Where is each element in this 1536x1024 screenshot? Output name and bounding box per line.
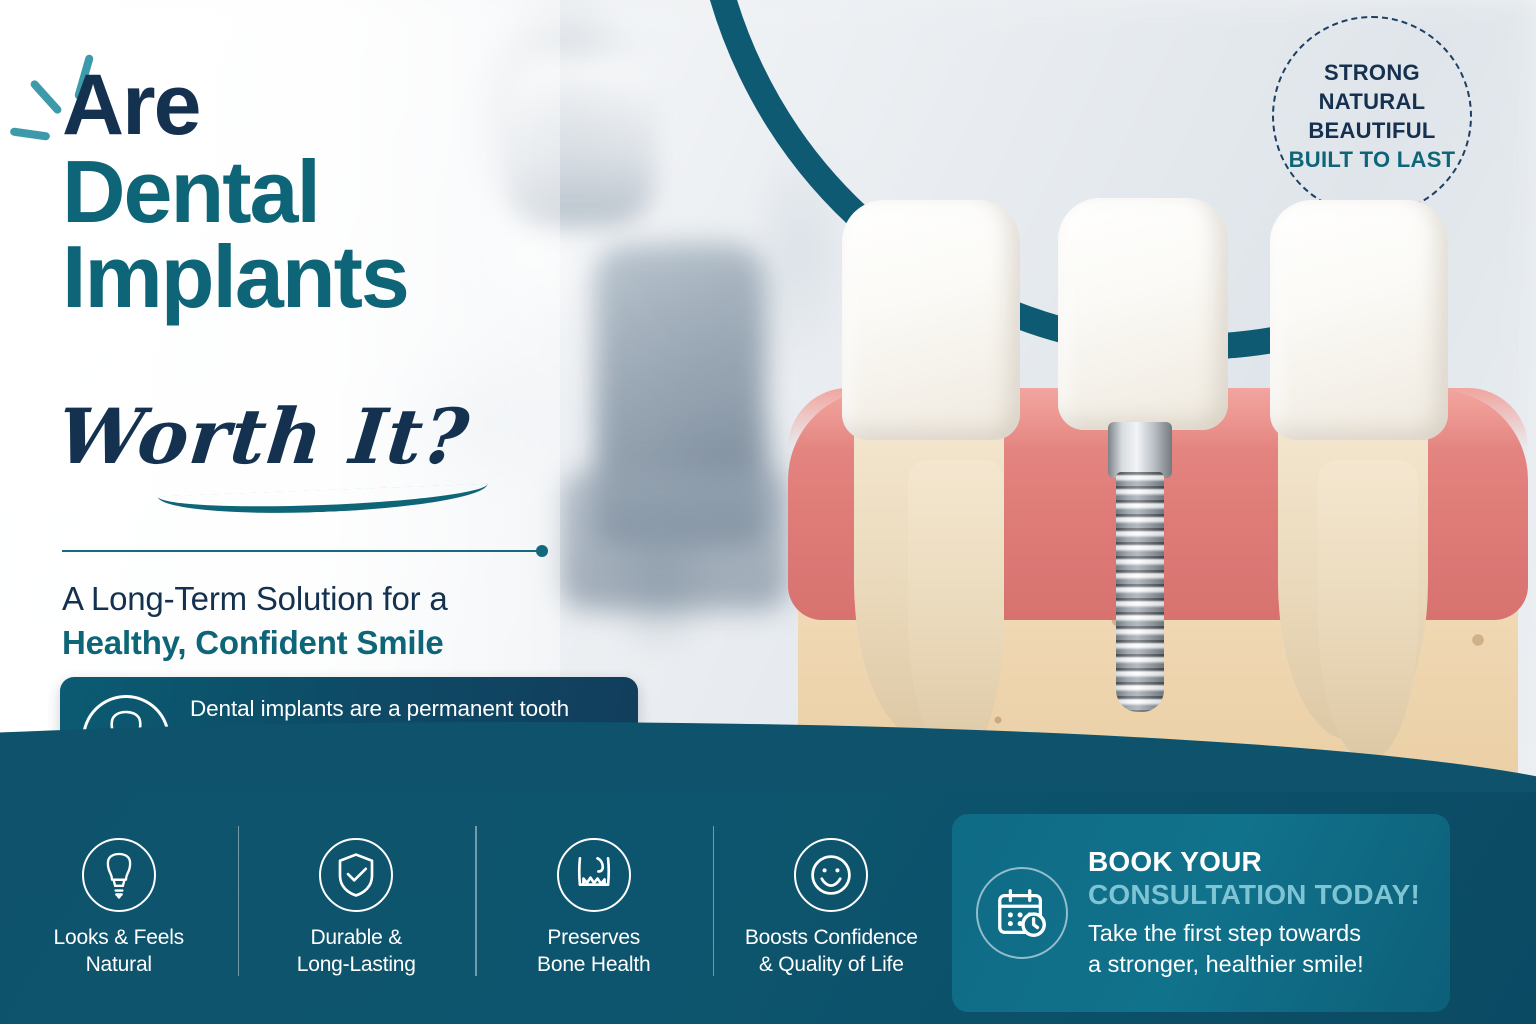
shield-check-icon [319,838,393,912]
jawbone-icon [557,838,631,912]
benefit-label-line-1: Preserves [547,926,640,949]
benefit-label: Boosts Confidence & Quality of Life [745,925,918,979]
badge-line-1: STRONG [1324,60,1420,86]
tooth-implant-icon [82,838,156,912]
smiley-face-icon [794,838,868,912]
benefit-label: Preserves Bone Health [537,925,650,979]
subtitle-line-2: Healthy, Confident Smile [62,624,622,662]
spark-line-2 [29,79,63,116]
benefit-item-confidence[interactable]: Boosts Confidence & Quality of Life [713,792,951,1024]
tooth-root-right-b [1318,460,1418,760]
badge-line-2: NATURAL [1319,89,1426,115]
dental-implant-illustration [758,160,1536,820]
headline-line-2: Dental [62,151,622,234]
implant-crown [1058,198,1228,430]
benefit-label-line-2: Long-Lasting [297,953,416,976]
badge-line-3: BEAUTIFUL [1308,118,1435,144]
benefit-item-durable[interactable]: Durable & Long-Lasting [238,792,476,1024]
cta-panel[interactable]: BOOK YOUR CONSULTATION TODAY! Take the f… [952,814,1450,1012]
benefits-row: Looks & Feels Natural Durable & Long-Las… [0,792,950,1024]
benefit-label-line-1: Durable & [310,926,402,949]
benefit-label-line-1: Looks & Feels [54,926,184,949]
benefit-label-line-1: Boosts Confidence [745,926,918,949]
calendar-clock-icon [976,867,1068,959]
subtitle-block: A Long-Term Solution for a Healthy, Conf… [62,580,622,662]
swoosh-underline [158,484,489,519]
tooth-root-left-b [908,460,1004,760]
cta-line-1: BOOK YOUR [1088,846,1420,878]
benefit-item-natural[interactable]: Looks & Feels Natural [0,792,238,1024]
benefit-label: Looks & Feels Natural [54,925,184,979]
headline-block: Are Dental Implants [62,66,622,319]
subtitle-line-1: A Long-Term Solution for a [62,580,622,618]
divider-rule [62,550,542,552]
cta-line-2: CONSULTATION TODAY! [1088,879,1420,911]
benefit-label-line-2: Natural [86,953,152,976]
headline-script-block: Worth It? [58,392,618,522]
headline-script-text: Worth It? [53,392,473,481]
headline-line-1: Are [62,66,622,145]
cta-text-block: BOOK YOUR CONSULTATION TODAY! Take the f… [1088,846,1420,979]
benefit-label: Durable & Long-Lasting [297,925,416,979]
benefit-item-bone[interactable]: Preserves Bone Health [475,792,713,1024]
divider-rule-dot [536,545,548,557]
cta-line-4: a stronger, healthier smile! [1088,949,1420,980]
headline-line-3: Implants [62,236,622,319]
tooth-crown-left [842,200,1020,440]
benefit-label-line-2: Bone Health [537,953,650,976]
implant-screw [1116,472,1164,712]
cta-line-3: Take the first step towards [1088,918,1420,949]
implant-abutment [1108,422,1172,478]
infographic-poster: Are Dental Implants Worth It? A Long-Ter… [0,0,1536,1024]
benefit-label-line-2: & Quality of Life [759,953,904,976]
tooth-crown-right [1270,200,1448,440]
